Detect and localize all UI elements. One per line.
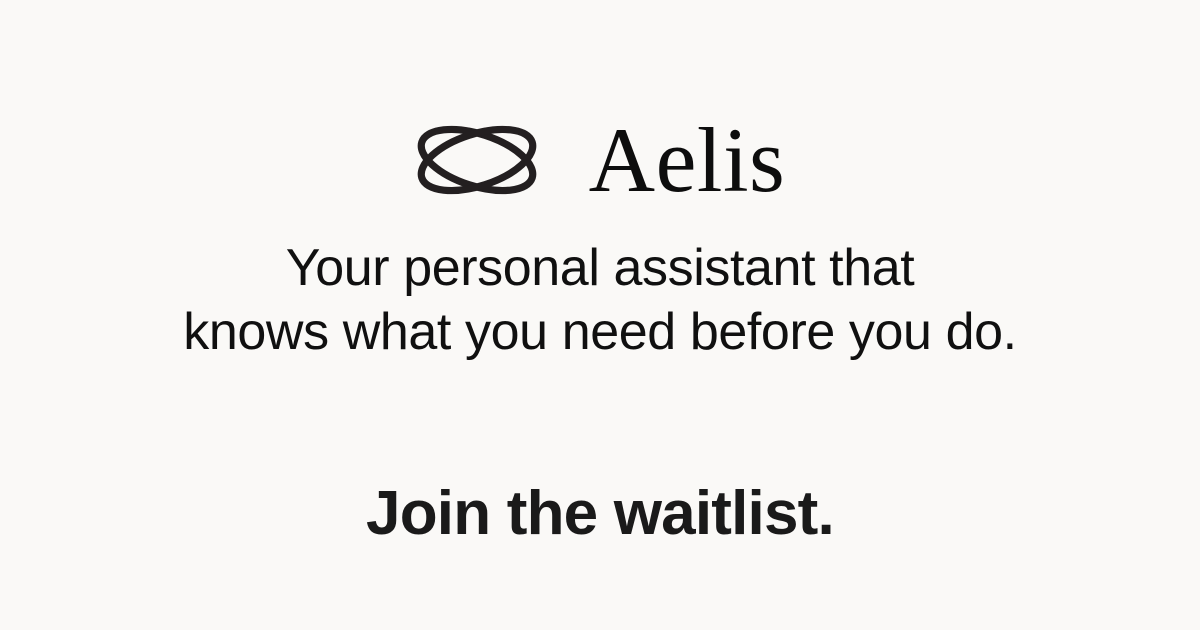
brand-wordmark: Aelis	[589, 112, 786, 208]
tagline: Your personal assistant that knows what …	[0, 236, 1200, 364]
cta-heading: Join the waitlist.	[0, 478, 1200, 550]
tagline-line-2: knows what you need before you do.	[0, 300, 1200, 364]
tagline-line-1: Your personal assistant that	[0, 236, 1200, 300]
landing-hero: Aelis Your personal assistant that knows…	[0, 0, 1200, 630]
brand-lockup: Aelis	[0, 112, 1200, 208]
crossed-ellipses-atom-icon	[415, 121, 539, 199]
